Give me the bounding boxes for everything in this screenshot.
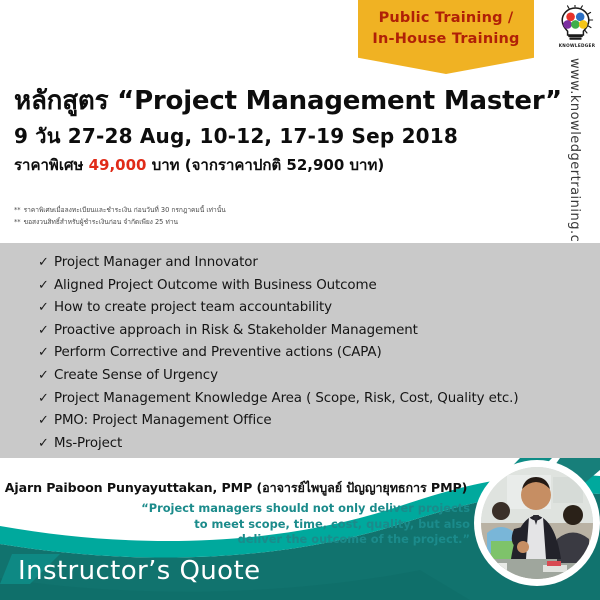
- list-item: ✓ PMO: Project Management Office: [38, 410, 583, 433]
- training-flyer: Public Training / In-House Training KN: [0, 0, 600, 600]
- list-item: ✓ Perform Corrective and Preventive acti…: [38, 342, 583, 365]
- fineprint-text: ราคาพิเศษเมื่อลงทะเบียนและชำระเงิน ก่อนว…: [24, 204, 226, 216]
- label-instructors: Instructor’s: [18, 556, 171, 586]
- training-type-banner: Public Training / In-House Training: [358, 0, 534, 74]
- fineprint-bullet-icon: **: [14, 204, 21, 216]
- course-header: หลักสูตร “Project Management Master” 9 ว…: [14, 84, 544, 175]
- topic-label: Ms-Project: [54, 433, 122, 456]
- check-icon: ✓: [38, 297, 54, 320]
- course-title: หลักสูตร “Project Management Master”: [14, 84, 544, 118]
- topic-label: Project Manager and Innovator: [54, 252, 258, 275]
- banner-line-inhouse-training: In-House Training: [372, 29, 519, 50]
- topic-label: Proactive approach in Risk & Stakeholder…: [54, 320, 418, 343]
- list-item: ✓ Ms-Project: [38, 433, 583, 456]
- topics-list: ✓ Project Manager and Innovator ✓ Aligne…: [38, 252, 583, 455]
- check-icon: ✓: [38, 365, 54, 388]
- list-item: ✓ Project Manager and Innovator: [38, 252, 583, 275]
- fineprint-text: ขอสงวนสิทธิ์สำหรับผู้ชำระเงินก่อน จำกัดเ…: [24, 216, 178, 228]
- fineprint-notes: ** ราคาพิเศษเมื่อลงทะเบียนและชำระเงิน ก่…: [14, 204, 434, 228]
- banner-line-public-training: Public Training /: [379, 8, 514, 29]
- list-item: ✓ Create Sense of Urgency: [38, 365, 583, 388]
- instructor-classroom-photo: [481, 467, 593, 579]
- topic-label: Perform Corrective and Preventive action…: [54, 342, 382, 365]
- check-icon: ✓: [38, 388, 54, 411]
- lightbulb-logo-icon: [556, 5, 598, 45]
- topic-label: How to create project team accountabilit…: [54, 297, 332, 320]
- list-item: ✓ Proactive approach in Risk & Stakehold…: [38, 320, 583, 343]
- topic-label: Create Sense of Urgency: [54, 365, 218, 388]
- brand-logo: KNOWLEDGER: [556, 5, 598, 53]
- instructor-name: Ajarn Paiboon Punyayuttakan, PMP (อาจารย…: [0, 478, 472, 498]
- course-dates: 9 วัน 27-28 Aug, 10-12, 17-19 Sep 2018: [14, 123, 544, 149]
- check-icon: ✓: [38, 433, 54, 456]
- price-suffix-label: บาท (จากราคาปกติ 52,900 บาท): [146, 156, 384, 174]
- price-prefix-label: ราคาพิเศษ: [14, 156, 89, 174]
- check-icon: ✓: [38, 275, 54, 298]
- list-item: ✓ Project Management Knowledge Area ( Sc…: [38, 388, 583, 411]
- label-quote: Quote: [179, 556, 260, 586]
- instructors-quote-label: Instructor’s Quote: [18, 556, 260, 586]
- instructor-photo-frame: [478, 464, 596, 582]
- topic-label: Project Management Knowledge Area ( Scop…: [54, 388, 518, 411]
- check-icon: ✓: [38, 342, 54, 365]
- instructor-quote-text: “Project managers should not only delive…: [120, 501, 470, 548]
- avatar: [481, 467, 593, 579]
- check-icon: ✓: [38, 320, 54, 343]
- quote-line: deliver the outcome of the project.”: [120, 532, 470, 548]
- price-amount: 49,000: [89, 156, 147, 174]
- topic-label: PMO: Project Management Office: [54, 410, 272, 433]
- logo-caption: KNOWLEDGER: [556, 43, 598, 48]
- quote-line: “Project managers should not only delive…: [120, 501, 470, 517]
- topic-label: Aligned Project Outcome with Business Ou…: [54, 275, 377, 298]
- price-line: ราคาพิเศษ 49,000 บาท (จากราคาปกติ 52,900…: [14, 155, 544, 175]
- list-item: ✓ Aligned Project Outcome with Business …: [38, 275, 583, 298]
- quote-line: to meet scope, time, cost, quality, but …: [120, 517, 470, 533]
- list-item: ✓ How to create project team accountabil…: [38, 297, 583, 320]
- check-icon: ✓: [38, 410, 54, 433]
- fineprint-row: ** ราคาพิเศษเมื่อลงทะเบียนและชำระเงิน ก่…: [14, 204, 434, 216]
- check-icon: ✓: [38, 252, 54, 275]
- fineprint-row: ** ขอสงวนสิทธิ์สำหรับผู้ชำระเงินก่อน จำก…: [14, 216, 434, 228]
- fineprint-bullet-icon: **: [14, 216, 21, 228]
- topics-panel: ✓ Project Manager and Innovator ✓ Aligne…: [0, 243, 600, 458]
